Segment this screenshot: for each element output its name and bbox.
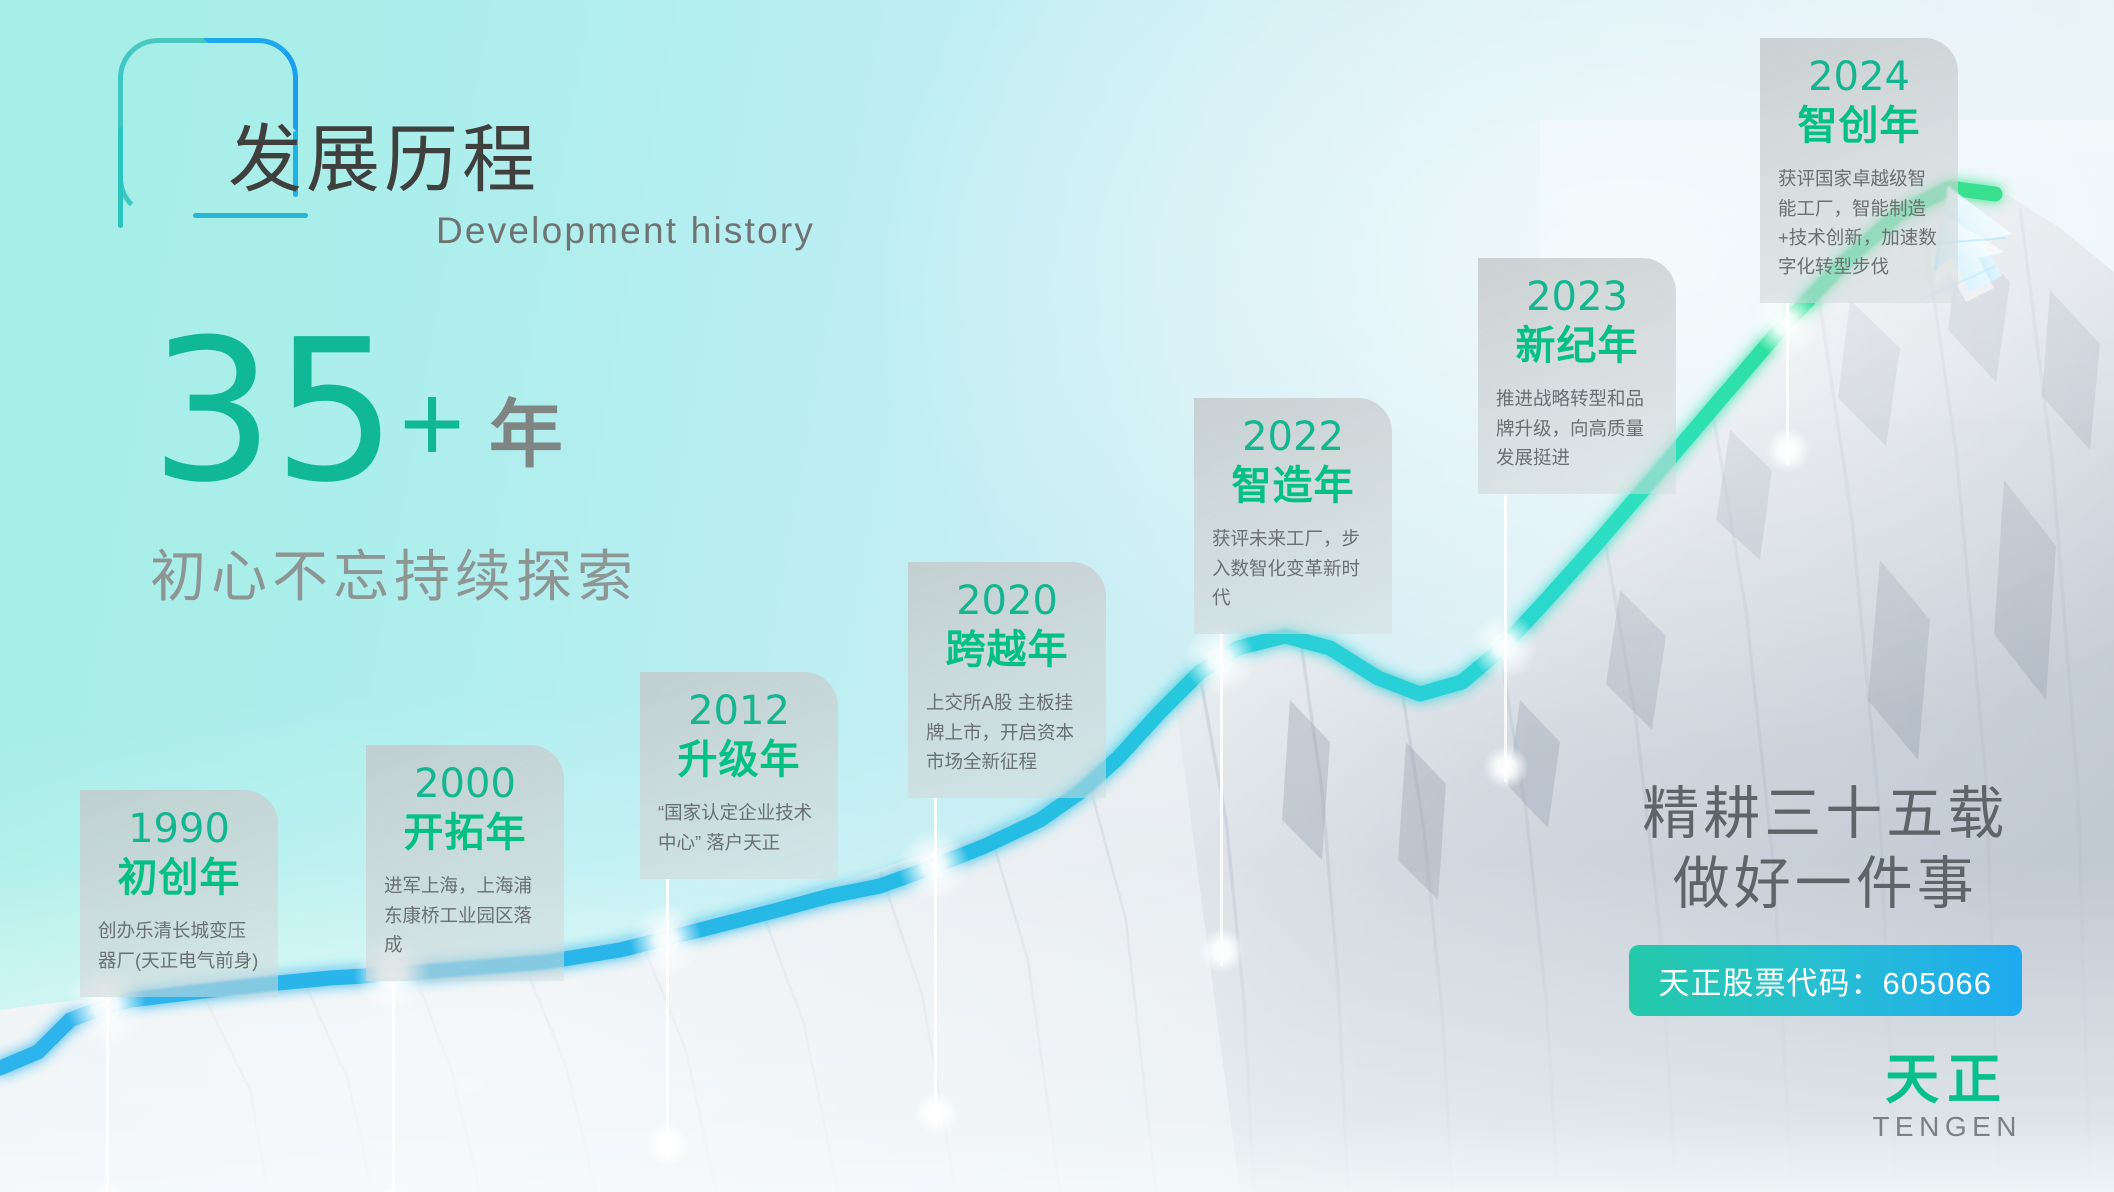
milestone-title: 智造年 [1206, 462, 1380, 510]
milestone-card-2000[interactable]: 2000开拓年进军上海，上海浦东康桥工业园区落成 [366, 745, 564, 981]
milestone-stem [666, 879, 669, 1159]
milestone-title: 升级年 [652, 736, 826, 784]
milestone-card-2012[interactable]: 2012升级年“国家认定企业技术中心” 落户天正 [640, 672, 838, 879]
milestone-title: 跨越年 [920, 626, 1094, 674]
milestone-title: 初创年 [92, 854, 266, 902]
milestone-title: 开拓年 [378, 809, 552, 857]
milestone-panel: 2024智创年获评国家卓越级智能工厂，智能制造+技术创新，加速数字化转型步伐 [1760, 38, 1958, 303]
milestone-description: 进军上海，上海浦东康桥工业园区落成 [378, 871, 552, 959]
slogan-line-1: 精耕三十五载 [1629, 780, 2022, 850]
milestone-description: 推进战略转型和品牌升级，向高质量发展挺进 [1490, 384, 1664, 472]
milestone-node-glow [913, 1090, 959, 1136]
logo-chinese-name: 天正 [1872, 1053, 2022, 1107]
milestone-title: 新纪年 [1490, 322, 1664, 370]
years-hero: 35 + 年 初心不忘持续探索 [150, 326, 638, 613]
milestone-description: 创办乐清长城变压器厂(天正电气前身) [92, 916, 266, 974]
milestone-panel: 2000开拓年进军上海，上海浦东康桥工业园区落成 [366, 745, 564, 981]
milestone-description: 获评国家卓越级智能工厂，智能制造+技术创新，加速数字化转型步伐 [1772, 164, 1946, 281]
hero-plus-sign: + [399, 368, 464, 480]
milestone-stem [1504, 494, 1507, 782]
milestone-node-glow [1765, 427, 1811, 473]
milestone-title: 智创年 [1772, 102, 1946, 150]
milestone-stem [392, 981, 395, 1192]
milestone-card-2023[interactable]: 2023新纪年推进战略转型和品牌升级，向高质量发展挺进 [1478, 258, 1676, 494]
milestone-stem [1220, 634, 1223, 966]
milestone-stem [106, 997, 109, 1192]
milestone-year: 2012 [652, 688, 826, 734]
milestone-panel: 2020跨越年上交所A股 主板挂牌上市，开启资本市场全新征程 [908, 562, 1106, 798]
milestone-card-1990[interactable]: 1990初创年创办乐清长城变压器厂(天正电气前身) [80, 790, 278, 997]
logo-latin-name: TENGEN [1872, 1113, 2022, 1141]
hero-unit: 年 [489, 398, 563, 472]
milestone-year: 2000 [378, 761, 552, 807]
milestone-year: 2020 [920, 578, 1094, 624]
hero-number: 35 [150, 326, 395, 498]
milestone-node-glow [1483, 744, 1529, 790]
milestone-card-2020[interactable]: 2020跨越年上交所A股 主板挂牌上市，开启资本市场全新征程 [908, 562, 1106, 798]
brand-slogan: 精耕三十五载 做好一件事 天正股票代码：605066 [1629, 780, 2022, 1016]
hero-tagline: 初心不忘持续探索 [150, 532, 638, 613]
milestone-panel: 2023新纪年推进战略转型和品牌升级，向高质量发展挺进 [1478, 258, 1676, 494]
milestone-node-glow [645, 1121, 691, 1167]
milestone-node-glow [1199, 928, 1245, 974]
milestone-card-2022[interactable]: 2022智造年获评未来工厂，步入数智化变革新时代 [1194, 398, 1392, 634]
page-subtitle: Development history [436, 210, 815, 252]
milestone-panel: 2022智造年获评未来工厂，步入数智化变革新时代 [1194, 398, 1392, 634]
development-history-poster: 发展历程 Development history 35 + 年 初心不忘持续探索… [0, 0, 2114, 1192]
milestone-description: “国家认定企业技术中心” 落户天正 [652, 798, 826, 856]
page-title: 发展历程 [228, 100, 540, 207]
slogan-line-2: 做好一件事 [1629, 850, 2022, 920]
milestone-description: 获评未来工厂，步入数智化变革新时代 [1206, 524, 1380, 612]
milestone-year: 1990 [92, 806, 266, 852]
milestone-stem [1786, 303, 1789, 465]
milestone-stem [934, 798, 937, 1128]
stock-code-badge: 天正股票代码：605066 [1629, 945, 2022, 1016]
milestone-year: 2023 [1490, 274, 1664, 320]
milestone-year: 2022 [1206, 414, 1380, 460]
company-logo: 天正 TENGEN [1872, 1053, 2022, 1141]
milestone-card-2024[interactable]: 2024智创年获评国家卓越级智能工厂，智能制造+技术创新，加速数字化转型步伐 [1760, 38, 1958, 303]
milestone-year: 2024 [1772, 54, 1946, 100]
milestone-panel: 1990初创年创办乐清长城变压器厂(天正电气前身) [80, 790, 278, 997]
milestone-description: 上交所A股 主板挂牌上市，开启资本市场全新征程 [920, 688, 1094, 776]
milestone-panel: 2012升级年“国家认定企业技术中心” 落户天正 [640, 672, 838, 879]
